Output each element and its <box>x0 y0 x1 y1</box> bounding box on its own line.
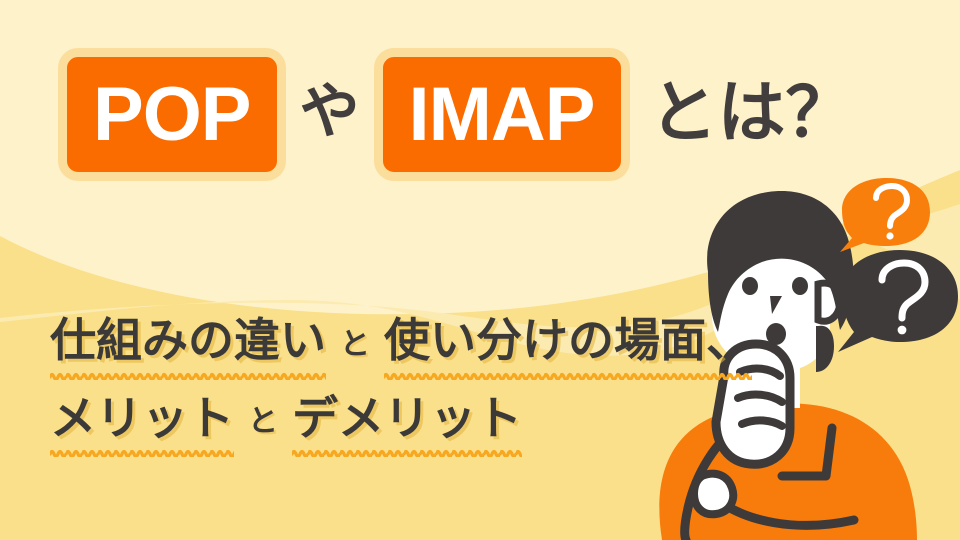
headline: POP や IMAP とは？ <box>58 48 854 181</box>
person-eye-left <box>742 277 758 295</box>
badge-imap: IMAP <box>374 48 630 181</box>
thumbnail-canvas: POP や IMAP とは？ 仕組みの違い と 使い分けの場面、 メリット と … <box>0 0 960 540</box>
subtitle-line-1-left: 仕組みの違い <box>50 316 326 380</box>
subtitle-line-2-left: メリット <box>50 394 234 458</box>
headline-conjunction: や <box>300 82 360 148</box>
headline-tail: とは？ <box>650 79 854 151</box>
badge-pop-label: POP <box>93 77 251 153</box>
badge-pop: POP <box>58 48 286 181</box>
question-bubble-dark <box>838 250 958 352</box>
person-sideburn <box>816 326 834 372</box>
badge-imap-label: IMAP <box>409 77 595 153</box>
subtitle-line-1-conjunction: と <box>340 330 370 360</box>
subtitle: 仕組みの違い と 使い分けの場面、 メリット と デメリット <box>50 316 752 471</box>
person-lower-hand <box>694 474 733 515</box>
subtitle-line-1: 仕組みの違い と 使い分けの場面、 <box>50 316 752 380</box>
subtitle-line-2: メリット と デメリット <box>50 394 752 458</box>
subtitle-line-2-right: デメリット <box>292 394 522 458</box>
subtitle-line-1-right: 使い分けの場面、 <box>384 316 752 380</box>
question-bubble-orange <box>840 178 930 252</box>
subtitle-line-2-conjunction: と <box>248 407 278 437</box>
person-eye-right <box>792 277 808 295</box>
